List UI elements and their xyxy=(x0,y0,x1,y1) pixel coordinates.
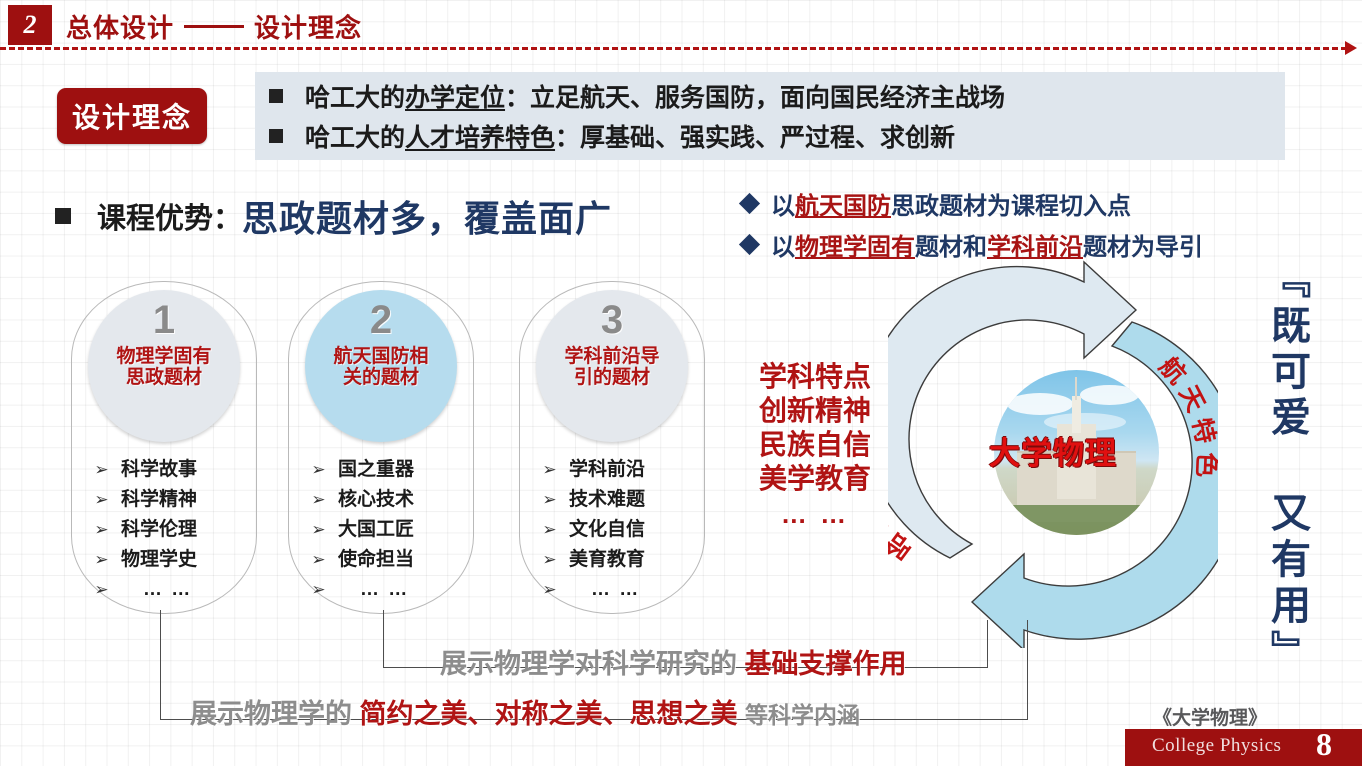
design-concept-box: 哈工大的办学定位：立足航天、服务国防，面向国民经济主战场 哈工大的人才培养特色：… xyxy=(255,72,1285,160)
footer-title-en: College Physics xyxy=(1152,735,1281,757)
concept-bullet-2-underline: 人才培养特色 xyxy=(405,118,555,154)
list-item: ➢… … xyxy=(311,580,414,599)
dia1-p1: 以 xyxy=(771,193,795,220)
concept-bullet-1: 哈工大的办学定位：立足航天、服务国防，面向国民经济主战场 xyxy=(269,78,1005,114)
chevron-right-icon: ➢ xyxy=(311,521,326,538)
topic-card-3-title-l2: 引的题材 xyxy=(574,367,650,388)
list-item: 以物理学固有题材和学科前沿题材为导引 xyxy=(742,227,1203,262)
dia2-hl2: 学科前沿 xyxy=(987,234,1083,261)
caption-1: 展示物理学对科学研究的 基础支撑作用 xyxy=(440,642,907,681)
diamond-bullet-2-text: 以物理学固有题材和学科前沿题材为导引 xyxy=(771,227,1203,262)
dia1-p2: 思政题材为课程切入点 xyxy=(891,193,1131,220)
topic-card-2-circle: 2 航天国防相 关的题材 xyxy=(305,290,457,442)
dia2-p3: 题材为导引 xyxy=(1083,234,1203,261)
connector-vertical-c3 xyxy=(383,610,385,668)
red-keyword-column: 学科特点 创新精神 民族自信 美学教育 … … xyxy=(735,360,895,530)
list-item: ➢… … xyxy=(542,580,645,599)
topic-card-1: 1 物理学固有 思政题材 ➢科学故事 ➢科学精神 ➢科学伦理 ➢物理学史 ➢… … xyxy=(71,281,257,614)
chevron-right-icon: ➢ xyxy=(94,581,109,598)
chevron-right-icon: ➢ xyxy=(542,551,557,568)
diamond-bullet-icon xyxy=(739,193,760,214)
course-advantage-row: 课程优势： 思政题材多，覆盖面广 xyxy=(55,190,612,242)
list-item: ➢美育教育 xyxy=(542,550,645,569)
vertical-slogan: 『既可爱 又有用』 xyxy=(1246,258,1308,676)
red-keyword-4: 美学教育 xyxy=(735,462,895,496)
page-title-left: 总体设计 xyxy=(66,8,174,45)
photo-spire xyxy=(1075,377,1077,400)
caption-2: 展示物理学的 简约之美、对称之美、思想之美 等科学内涵 xyxy=(190,692,860,731)
list-item: ➢科学伦理 xyxy=(94,520,197,539)
dia1-hl1: 航天国防 xyxy=(795,193,891,220)
cycle-diagram: 哈 工 大 品 牌 航 天 特 色 大学物理 xyxy=(888,258,1218,648)
topic-card-1-circle: 1 物理学固有 思政题材 xyxy=(88,290,240,442)
list-item: ➢… … xyxy=(94,580,197,599)
topic-card-2-number: 2 xyxy=(370,300,392,340)
concept-bullet-2: 哈工大的人才培养特色：厚基础、强实践、严过程、求创新 xyxy=(269,118,955,154)
topic-card-1-number: 1 xyxy=(153,300,175,340)
header-dashed-rule xyxy=(0,47,1347,50)
list-item: ➢使命担当 xyxy=(311,550,414,569)
chevron-right-icon: ➢ xyxy=(311,551,326,568)
topic-card-1-title-l2: 思政题材 xyxy=(126,367,202,388)
topic-card-3-title-l1: 学科前沿导 xyxy=(564,346,659,367)
chevron-right-icon: ➢ xyxy=(542,521,557,538)
topic-card-3-title: 学科前沿导 引的题材 xyxy=(564,346,659,389)
topic-card-1-title-l1: 物理学固有 xyxy=(116,346,211,367)
list-item: 以航天国防思政题材为课程切入点 xyxy=(742,186,1203,221)
dia2-p1: 以 xyxy=(771,234,795,261)
concept-bullet-1-underline: 办学定位 xyxy=(405,78,505,114)
slide-canvas: 2 总体设计 设计理念 设计理念 哈工大的办学定位：立足航天、服务国防，面向国民… xyxy=(0,0,1362,766)
concept-bullet-2-post: ：厚基础、强实践、严过程、求创新 xyxy=(555,118,955,154)
diamond-bullet-icon xyxy=(739,234,760,255)
topic-card-2-items: ➢国之重器 ➢核心技术 ➢大国工匠 ➢使命担当 ➢… … xyxy=(311,460,414,610)
list-item: ➢科学故事 xyxy=(94,460,197,479)
connector-vertical-c1 xyxy=(160,610,162,720)
dia2-hl1: 物理学固有 xyxy=(795,234,915,261)
photo-trees xyxy=(994,505,1159,535)
photo-cloud xyxy=(1080,385,1139,405)
topic-card-2-title-l2: 关的题材 xyxy=(343,367,419,388)
topic-card-3-items: ➢学科前沿 ➢技术难题 ➢文化自信 ➢美育教育 ➢… … xyxy=(542,460,645,610)
list-item: ➢核心技术 xyxy=(311,490,414,509)
square-bullet-icon xyxy=(269,89,283,103)
list-item: ➢大国工匠 xyxy=(311,520,414,539)
page-number: 8 xyxy=(1316,726,1332,763)
design-concept-badge: 设计理念 xyxy=(57,88,207,144)
red-keyword-2: 创新精神 xyxy=(735,394,895,428)
topic-card-2: 2 航天国防相 关的题材 ➢国之重器 ➢核心技术 ➢大国工匠 ➢使命担当 ➢… … xyxy=(288,281,474,614)
topic-card-1-items: ➢科学故事 ➢科学精神 ➢科学伦理 ➢物理学史 ➢… … xyxy=(94,460,197,610)
photo-cloud xyxy=(1007,393,1073,414)
connector-vertical-cap1-right xyxy=(987,620,989,668)
chevron-right-icon: ➢ xyxy=(311,491,326,508)
chevron-right-icon: ➢ xyxy=(94,491,109,508)
dia2-p2: 题材和 xyxy=(915,234,987,261)
caption-1-red: 基础支撑作用 xyxy=(745,649,907,679)
caption-2-gray-post: 等科学内涵 xyxy=(745,702,860,728)
course-advantage-value: 思政题材多，覆盖面广 xyxy=(242,190,612,242)
chevron-right-icon: ➢ xyxy=(542,581,557,598)
connector-vertical-cap2-right xyxy=(1027,620,1029,720)
chevron-right-icon: ➢ xyxy=(542,461,557,478)
page-title: 总体设计 设计理念 xyxy=(66,6,362,46)
list-item: ➢技术难题 xyxy=(542,490,645,509)
topic-card-3: 3 学科前沿导 引的题材 ➢学科前沿 ➢技术难题 ➢文化自信 ➢美育教育 ➢… … xyxy=(519,281,705,614)
diamond-bullet-list: 以航天国防思政题材为课程切入点 以物理学固有题材和学科前沿题材为导引 xyxy=(742,186,1203,268)
list-item: ➢国之重器 xyxy=(311,460,414,479)
chevron-right-icon: ➢ xyxy=(94,461,109,478)
chevron-right-icon: ➢ xyxy=(94,551,109,568)
chevron-right-icon: ➢ xyxy=(311,461,326,478)
page-title-right: 设计理念 xyxy=(254,8,362,45)
title-dash-divider xyxy=(184,25,244,28)
concept-bullet-1-pre: 哈工大的 xyxy=(305,78,405,114)
footer-title-cn: 《大学物理》 xyxy=(1153,703,1267,730)
chevron-right-icon: ➢ xyxy=(94,521,109,538)
section-number-badge: 2 xyxy=(8,5,52,45)
caption-2-red: 简约之美、对称之美、思想之美 xyxy=(360,699,738,729)
diamond-bullet-1-text: 以航天国防思政题材为课程切入点 xyxy=(771,186,1131,221)
topic-card-2-title: 航天国防相 关的题材 xyxy=(333,346,428,389)
cycle-center-label: 大学物理 xyxy=(888,428,1218,473)
concept-bullet-1-post: ：立足航天、服务国防，面向国民经济主战场 xyxy=(505,78,1005,114)
chevron-right-icon: ➢ xyxy=(311,581,326,598)
course-advantage-label: 课程优势： xyxy=(97,195,242,237)
square-bullet-icon xyxy=(55,208,71,224)
chevron-right-icon: ➢ xyxy=(542,491,557,508)
red-keyword-ellipsis: … … xyxy=(735,499,895,531)
topic-card-2-title-l1: 航天国防相 xyxy=(333,346,428,367)
list-item: ➢物理学史 xyxy=(94,550,197,569)
list-item: ➢文化自信 xyxy=(542,520,645,539)
topic-card-3-number: 3 xyxy=(601,300,623,340)
header-rule-arrow-icon xyxy=(1345,41,1357,55)
topic-card-3-circle: 3 学科前沿导 引的题材 xyxy=(536,290,688,442)
caption-2-gray-pre: 展示物理学的 xyxy=(190,699,352,729)
red-keyword-1: 学科特点 xyxy=(735,360,895,394)
list-item: ➢科学精神 xyxy=(94,490,197,509)
caption-1-gray: 展示物理学对科学研究的 xyxy=(440,649,737,679)
list-item: ➢学科前沿 xyxy=(542,460,645,479)
topic-card-1-title: 物理学固有 思政题材 xyxy=(116,346,211,389)
square-bullet-icon xyxy=(269,129,283,143)
concept-bullet-2-pre: 哈工大的 xyxy=(305,118,405,154)
red-keyword-3: 民族自信 xyxy=(735,428,895,462)
